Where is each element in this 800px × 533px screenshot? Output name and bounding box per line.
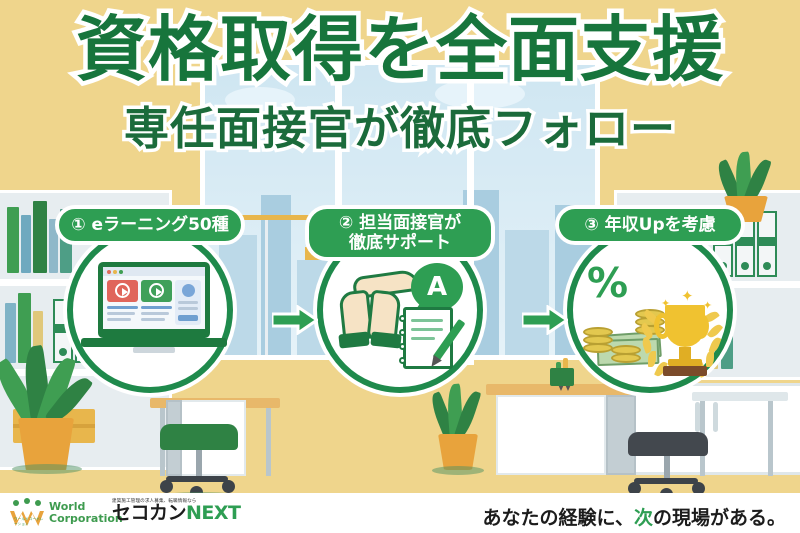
arrow-1-icon (272, 305, 318, 335)
poster-root: 資格取得を全面支援 専任面接官が徹底フォロー (0, 0, 800, 533)
sekokan-brand-en: NEXT (186, 502, 241, 524)
arrow-2-icon (522, 305, 568, 335)
world-corporation-logo[interactable]: ワールドコーポレーション World Corporation (10, 500, 123, 526)
steps-row: ① eラーニング50種 A (0, 205, 800, 395)
footer-bar: ワールドコーポレーション World Corporation 建築施工管理の求人… (0, 493, 800, 533)
step-2-label[interactable]: ② 担当面接官が 徹底サポート (305, 205, 495, 261)
sekokan-brand: セコカンNEXT (112, 504, 241, 524)
sekokan-next-logo[interactable]: 建築施工管理の求人募集、転職情報なら セコカンNEXT (112, 498, 241, 524)
slogan: あなたの経験に、次の現場がある。 (483, 503, 786, 530)
speech-bubble-a-icon: A (411, 263, 463, 311)
step-1-label[interactable]: ① eラーニング50種 (55, 205, 245, 245)
sekokan-brand-jp: セコカン (112, 502, 186, 524)
headline-block: 資格取得を全面支援 専任面接官が徹底フォロー (0, 14, 800, 157)
headline-main: 資格取得を全面支援 (0, 14, 800, 86)
world-corporation-mark-icon: ワールドコーポレーション (10, 500, 44, 526)
slogan-post: の現場がある。 (653, 507, 786, 529)
slogan-accent: 次 (634, 507, 653, 529)
headline-sub: 専任面接官が徹底フォロー (0, 92, 800, 157)
slogan-pre: あなたの経験に、 (483, 507, 634, 529)
percent-icon: % (587, 259, 628, 307)
step-3-label[interactable]: ③ 年収Upを考慮 (555, 205, 745, 245)
world-corporation-mark-sub: ワールドコーポレーション (14, 517, 44, 527)
